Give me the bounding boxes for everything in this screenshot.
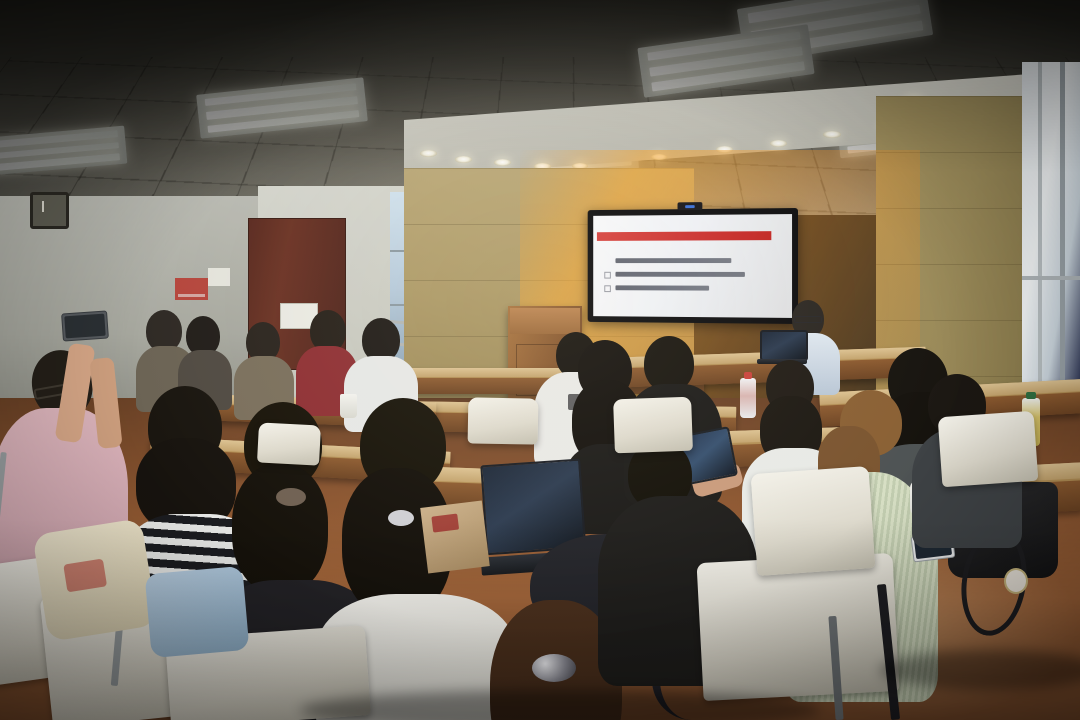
hair-tie bbox=[388, 510, 414, 526]
hair-scrunchie bbox=[276, 488, 306, 506]
chair[interactable] bbox=[938, 411, 1039, 488]
water-bottle bbox=[740, 378, 756, 418]
bag-charm-icon bbox=[1006, 570, 1026, 592]
lectern-laptop[interactable] bbox=[760, 330, 804, 364]
downlight-icon bbox=[420, 150, 437, 157]
lecture-room-photo bbox=[0, 0, 1080, 720]
presentation-screen[interactable] bbox=[588, 208, 798, 324]
downlight-icon bbox=[823, 131, 841, 138]
camera-phone[interactable] bbox=[61, 310, 109, 341]
paper-cup bbox=[340, 394, 357, 418]
downlight-icon bbox=[770, 140, 787, 147]
window-right bbox=[1022, 62, 1080, 392]
wall-clock bbox=[30, 192, 69, 229]
hair-ponytail bbox=[232, 464, 328, 594]
downlight-icon bbox=[494, 159, 511, 166]
conference-camera-icon bbox=[678, 202, 703, 210]
hair-tie-jeweled bbox=[532, 654, 576, 682]
white-wall-sign bbox=[208, 268, 230, 286]
red-wall-sign bbox=[175, 278, 208, 300]
chair[interactable] bbox=[697, 553, 900, 701]
draped-blue-garment bbox=[145, 566, 250, 658]
chair[interactable] bbox=[613, 397, 693, 454]
chair[interactable] bbox=[468, 397, 539, 444]
chair[interactable] bbox=[257, 422, 321, 465]
slide-content bbox=[593, 214, 792, 318]
chair[interactable] bbox=[751, 466, 876, 576]
notebook-cover bbox=[420, 500, 490, 573]
draped-jacket bbox=[32, 518, 158, 642]
glasses-icon bbox=[794, 316, 822, 323]
downlight-icon bbox=[455, 156, 472, 163]
